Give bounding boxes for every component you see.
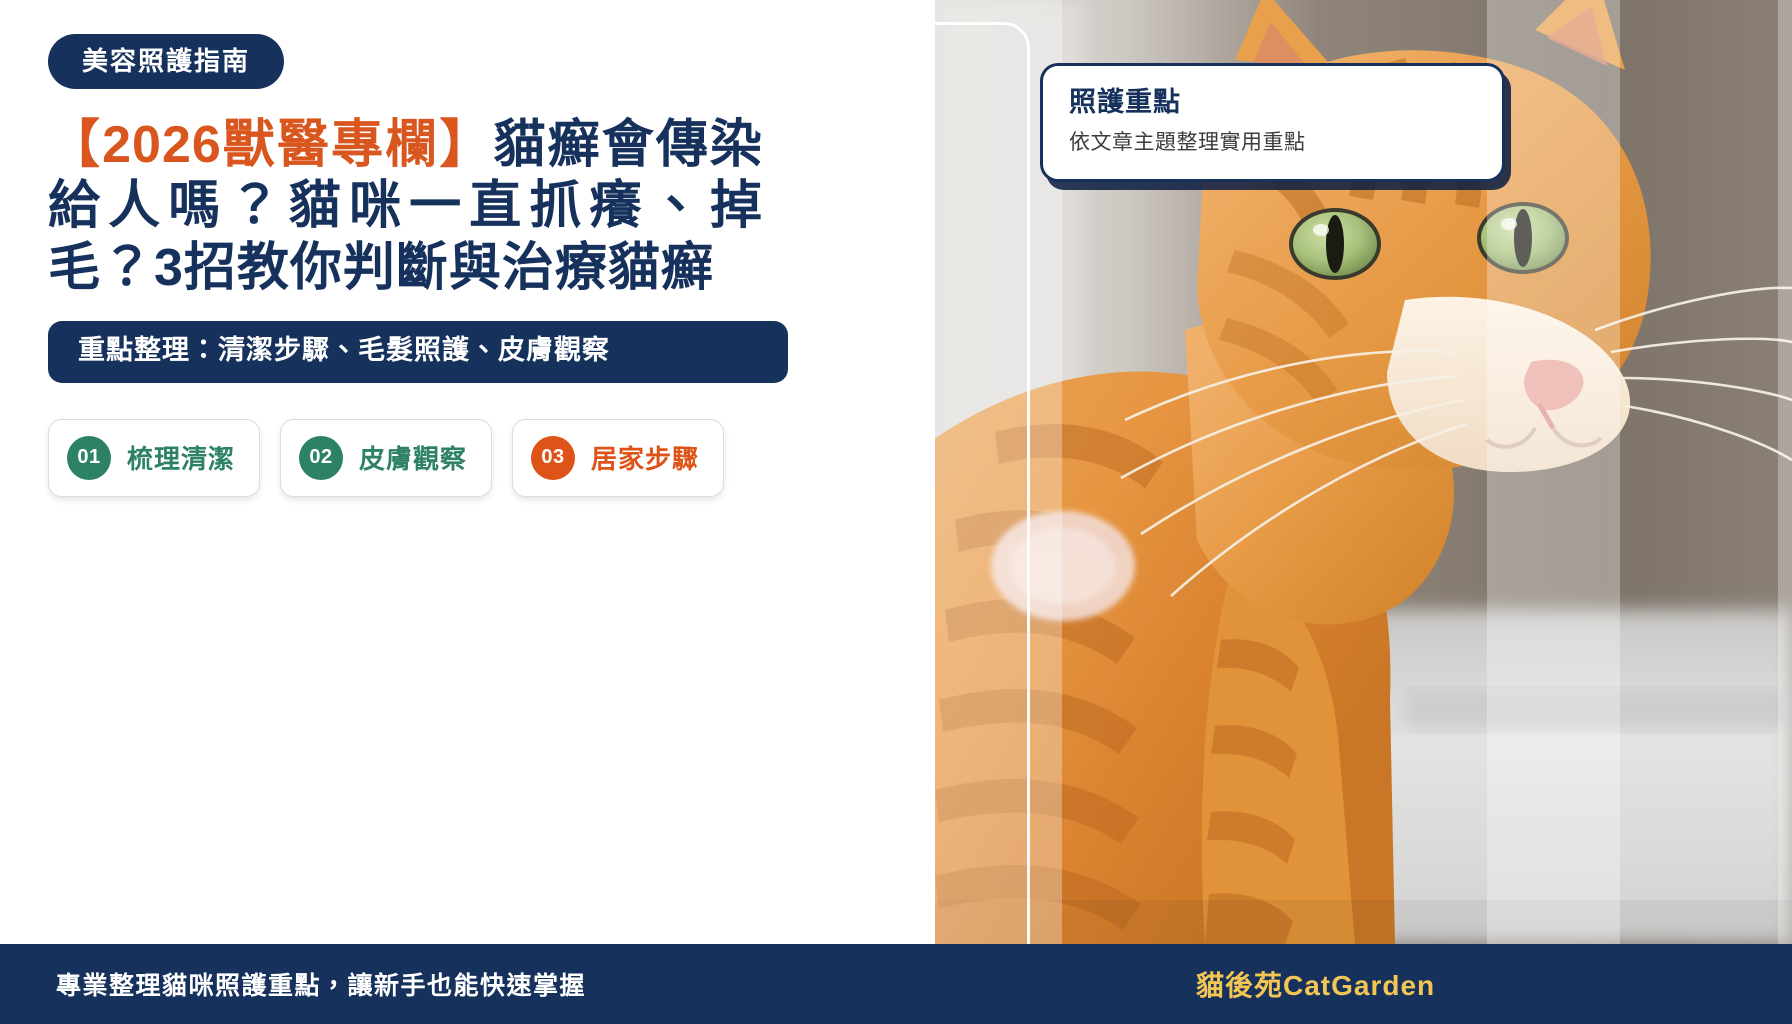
poster-canvas: 美容照護指南 【2026獸醫專欄】貓癬會傳染給人嗎？貓咪一直抓癢、掉毛？3招教你… [0,0,1792,1024]
footer-tagline: 專業整理貓咪照護重點，讓新手也能快速掌握 [56,966,586,1002]
cat-eye-right [1477,202,1569,274]
brand-name: 貓後苑CatGarden [1196,964,1435,1004]
cat-eye-left [1289,208,1381,280]
page-title: 【2026獸醫專欄】貓癬會傳染給人嗎？貓咪一直抓癢、掉毛？3招教你判斷與治療貓癬 [48,115,763,299]
category-badge: 美容照護指南 [48,34,284,89]
step-card-01[interactable]: 01 梳理清潔 [48,419,260,497]
step-number-badge-02: 02 [299,436,343,480]
footer-bar: 專業整理貓咪照護重點，讓新手也能快速掌握 貓後苑CatGarden [0,944,1792,1024]
step-card-list: 01 梳理清潔 02 皮膚觀察 03 居家步驟 [48,419,895,497]
step-number-badge-03: 03 [531,436,575,480]
step-card-03[interactable]: 03 居家步驟 [512,419,724,497]
care-points-callout: 照護重點 依文章主題整理實用重點 [1040,63,1505,182]
callout-title: 照護重點 [1069,86,1476,118]
step-label-03: 居家步驟 [591,439,699,476]
callout-subtitle: 依文章主題整理實用重點 [1069,129,1476,156]
step-label-01: 梳理清潔 [127,439,235,476]
headline-accent: 【2026獸醫專欄】 [48,116,494,174]
step-card-02[interactable]: 02 皮膚觀察 [280,419,492,497]
left-content-panel: 美容照護指南 【2026獸醫專欄】貓癬會傳染給人嗎？貓咪一直抓癢、掉毛？3招教你… [0,0,935,944]
step-label-02: 皮膚觀察 [359,439,467,476]
subtitle-bar: 重點整理：清潔步驟、毛髮照護、皮膚觀察 [48,321,788,383]
step-number-badge-01: 01 [67,436,111,480]
